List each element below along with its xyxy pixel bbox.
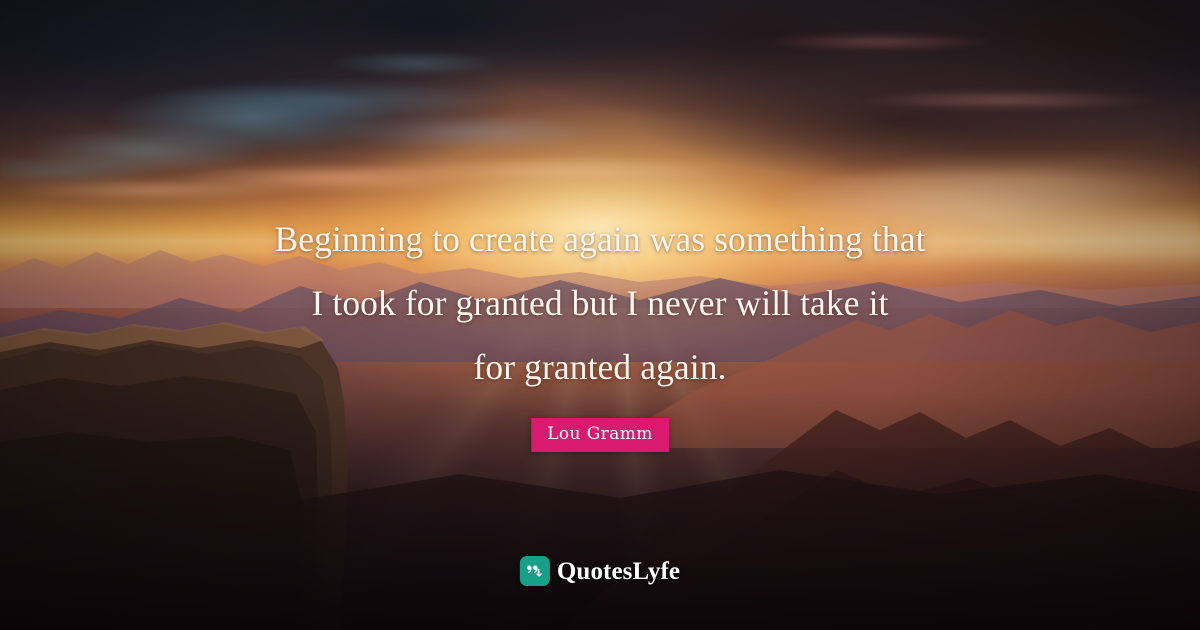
brand-wordmark: QuotesLyfe	[557, 559, 680, 584]
quote-line-3: for granted again.	[160, 335, 1040, 399]
author-name-badge[interactable]: Lou Gramm	[531, 418, 669, 452]
quote-line-1: Beginning to create again was something …	[160, 207, 1040, 271]
quote-line-2: I took for granted but I never will take…	[160, 271, 1040, 335]
quote-image-canvas: Beginning to create again was something …	[0, 0, 1200, 630]
quote-text-block: Beginning to create again was something …	[160, 207, 1040, 399]
quoteslyfe-logo[interactable]: QuotesLyfe	[520, 556, 680, 586]
overlay-content: Beginning to create again was something …	[0, 0, 1200, 630]
quote-mark-icon	[520, 556, 550, 586]
